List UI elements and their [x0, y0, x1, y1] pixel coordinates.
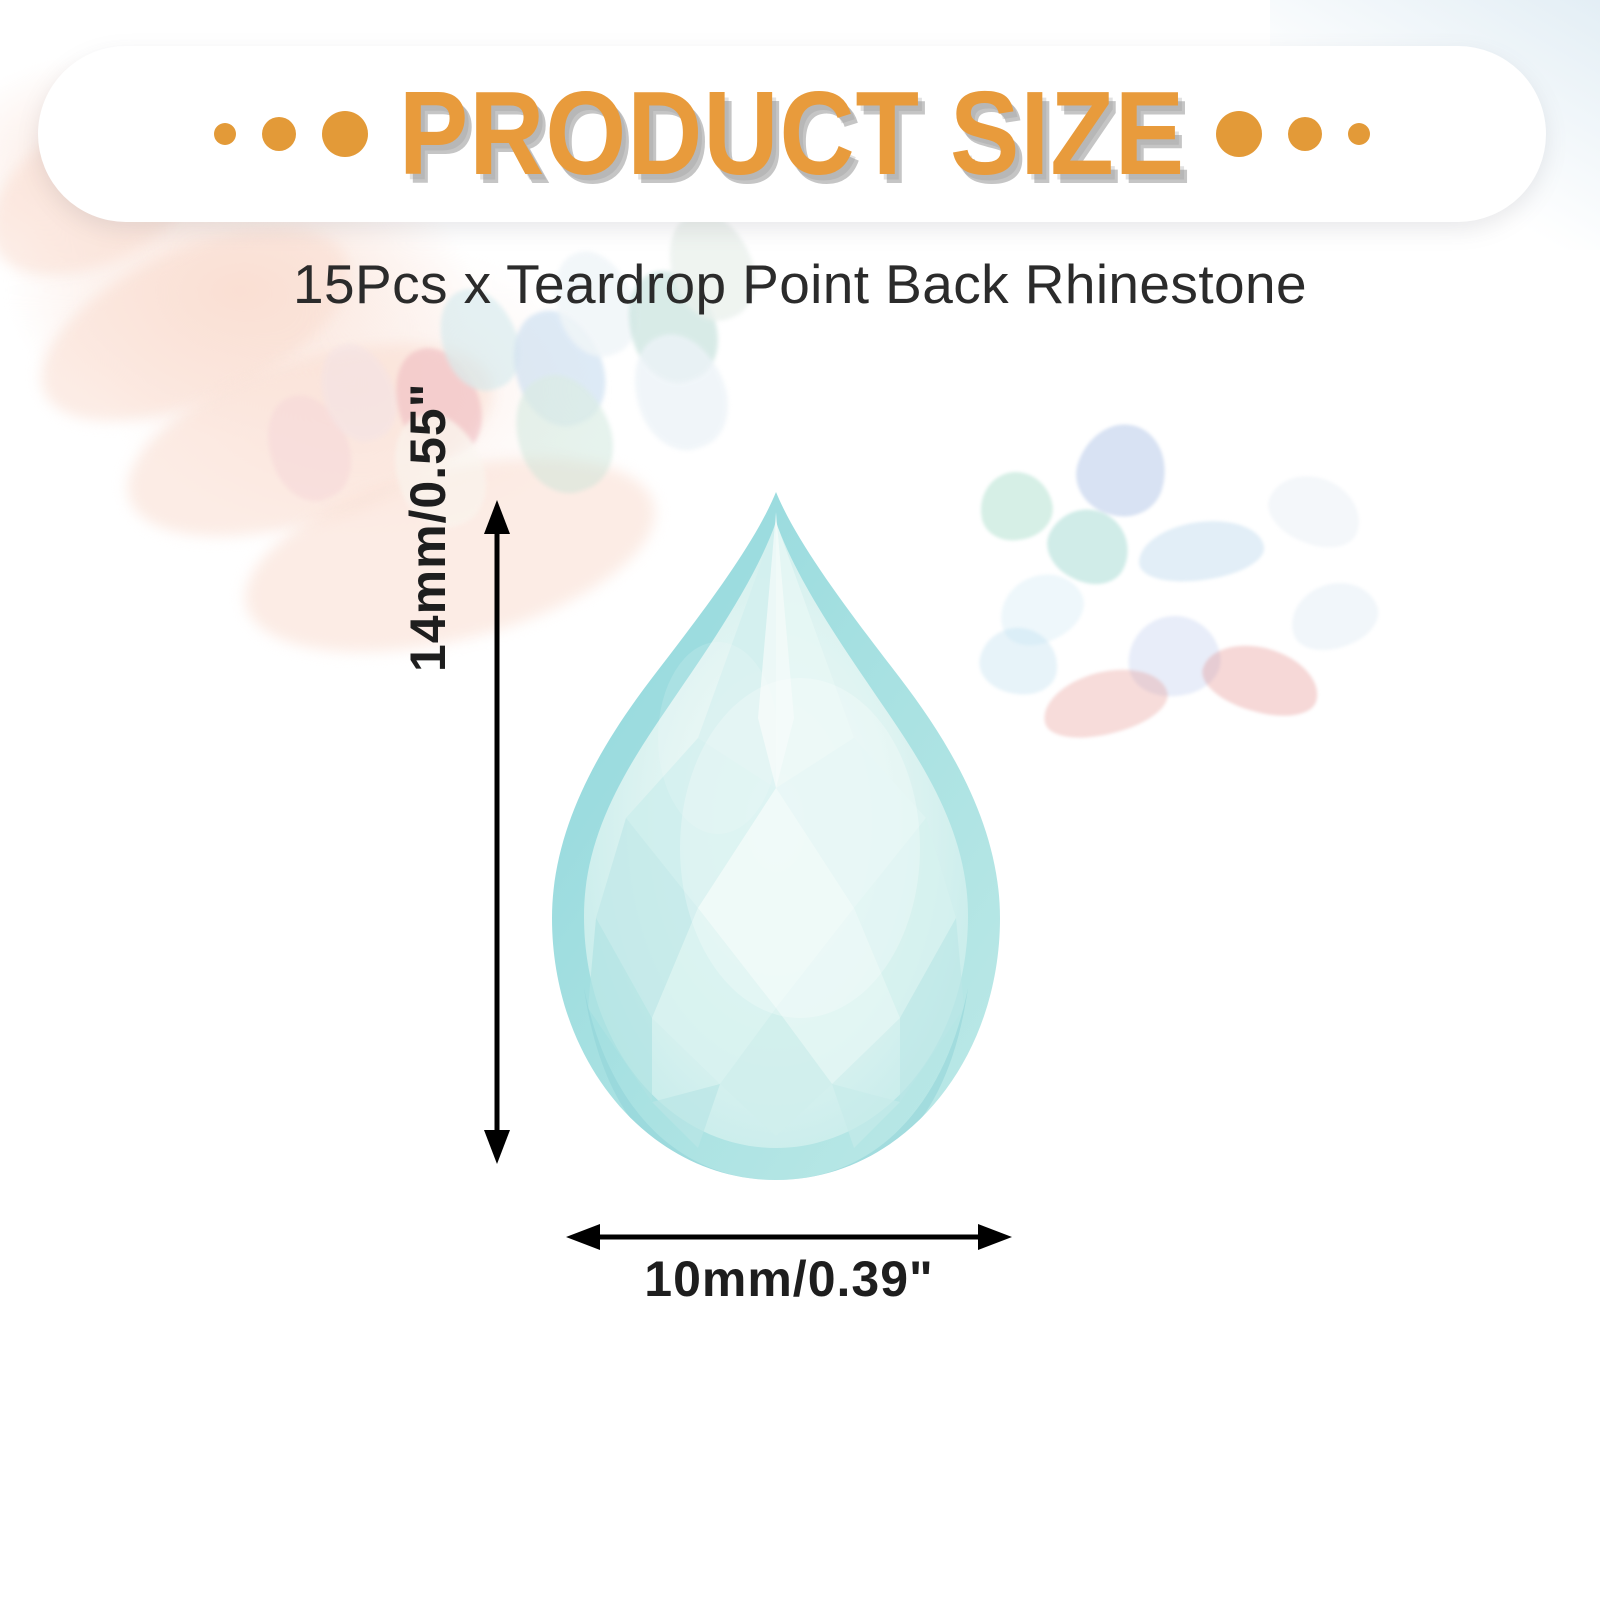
scattered-gems: [980, 400, 1400, 760]
width-dimension-label: 10mm/0.39": [568, 1250, 1010, 1308]
dot-icon: [1348, 123, 1370, 145]
scattered-gem: [1259, 463, 1371, 559]
height-dimension-label: 14mm/0.55": [399, 372, 457, 672]
dot-icon: [214, 123, 236, 145]
scattered-gem: [1066, 413, 1178, 528]
hand-finger: [14, 189, 376, 460]
scattered-gem: [1195, 633, 1326, 727]
stone: [618, 321, 742, 463]
gem-facets: [584, 512, 968, 1188]
scattered-gem: [1036, 658, 1173, 749]
dot-icon: [1288, 117, 1322, 151]
scattered-gem: [1036, 496, 1141, 597]
height-arrow-top: [484, 500, 510, 534]
banner-title: PRODUCT SIZE: [399, 75, 1185, 194]
width-arrow-right: [978, 1224, 1012, 1250]
scattered-gem: [1282, 572, 1385, 660]
teardrop-gem-svg: [548, 488, 1004, 1184]
dot-icon: [1216, 111, 1262, 157]
teardrop-gem-image: [548, 488, 1004, 1184]
bottom-fade: [0, 1270, 1600, 1600]
scattered-gem: [1135, 514, 1268, 589]
stone: [499, 361, 628, 506]
stone: [253, 383, 365, 512]
scattered-gem: [1124, 611, 1224, 700]
width-arrow-left: [566, 1224, 600, 1250]
dot-icon: [322, 111, 368, 157]
product-size-banner: PRODUCT SIZE: [38, 46, 1546, 222]
product-subtitle: 15Pcs x Teardrop Point Back Rhinestone: [0, 252, 1600, 316]
stone: [497, 297, 620, 438]
stone: [307, 333, 408, 451]
height-arrow-bottom: [484, 1130, 510, 1164]
decorative-dots-left: [201, 111, 381, 157]
dot-icon: [262, 117, 296, 151]
product-size-infographic: PRODUCT SIZE 15Pcs x Teardrop Point Back…: [0, 0, 1600, 1600]
decorative-dots-right: [1203, 111, 1383, 157]
